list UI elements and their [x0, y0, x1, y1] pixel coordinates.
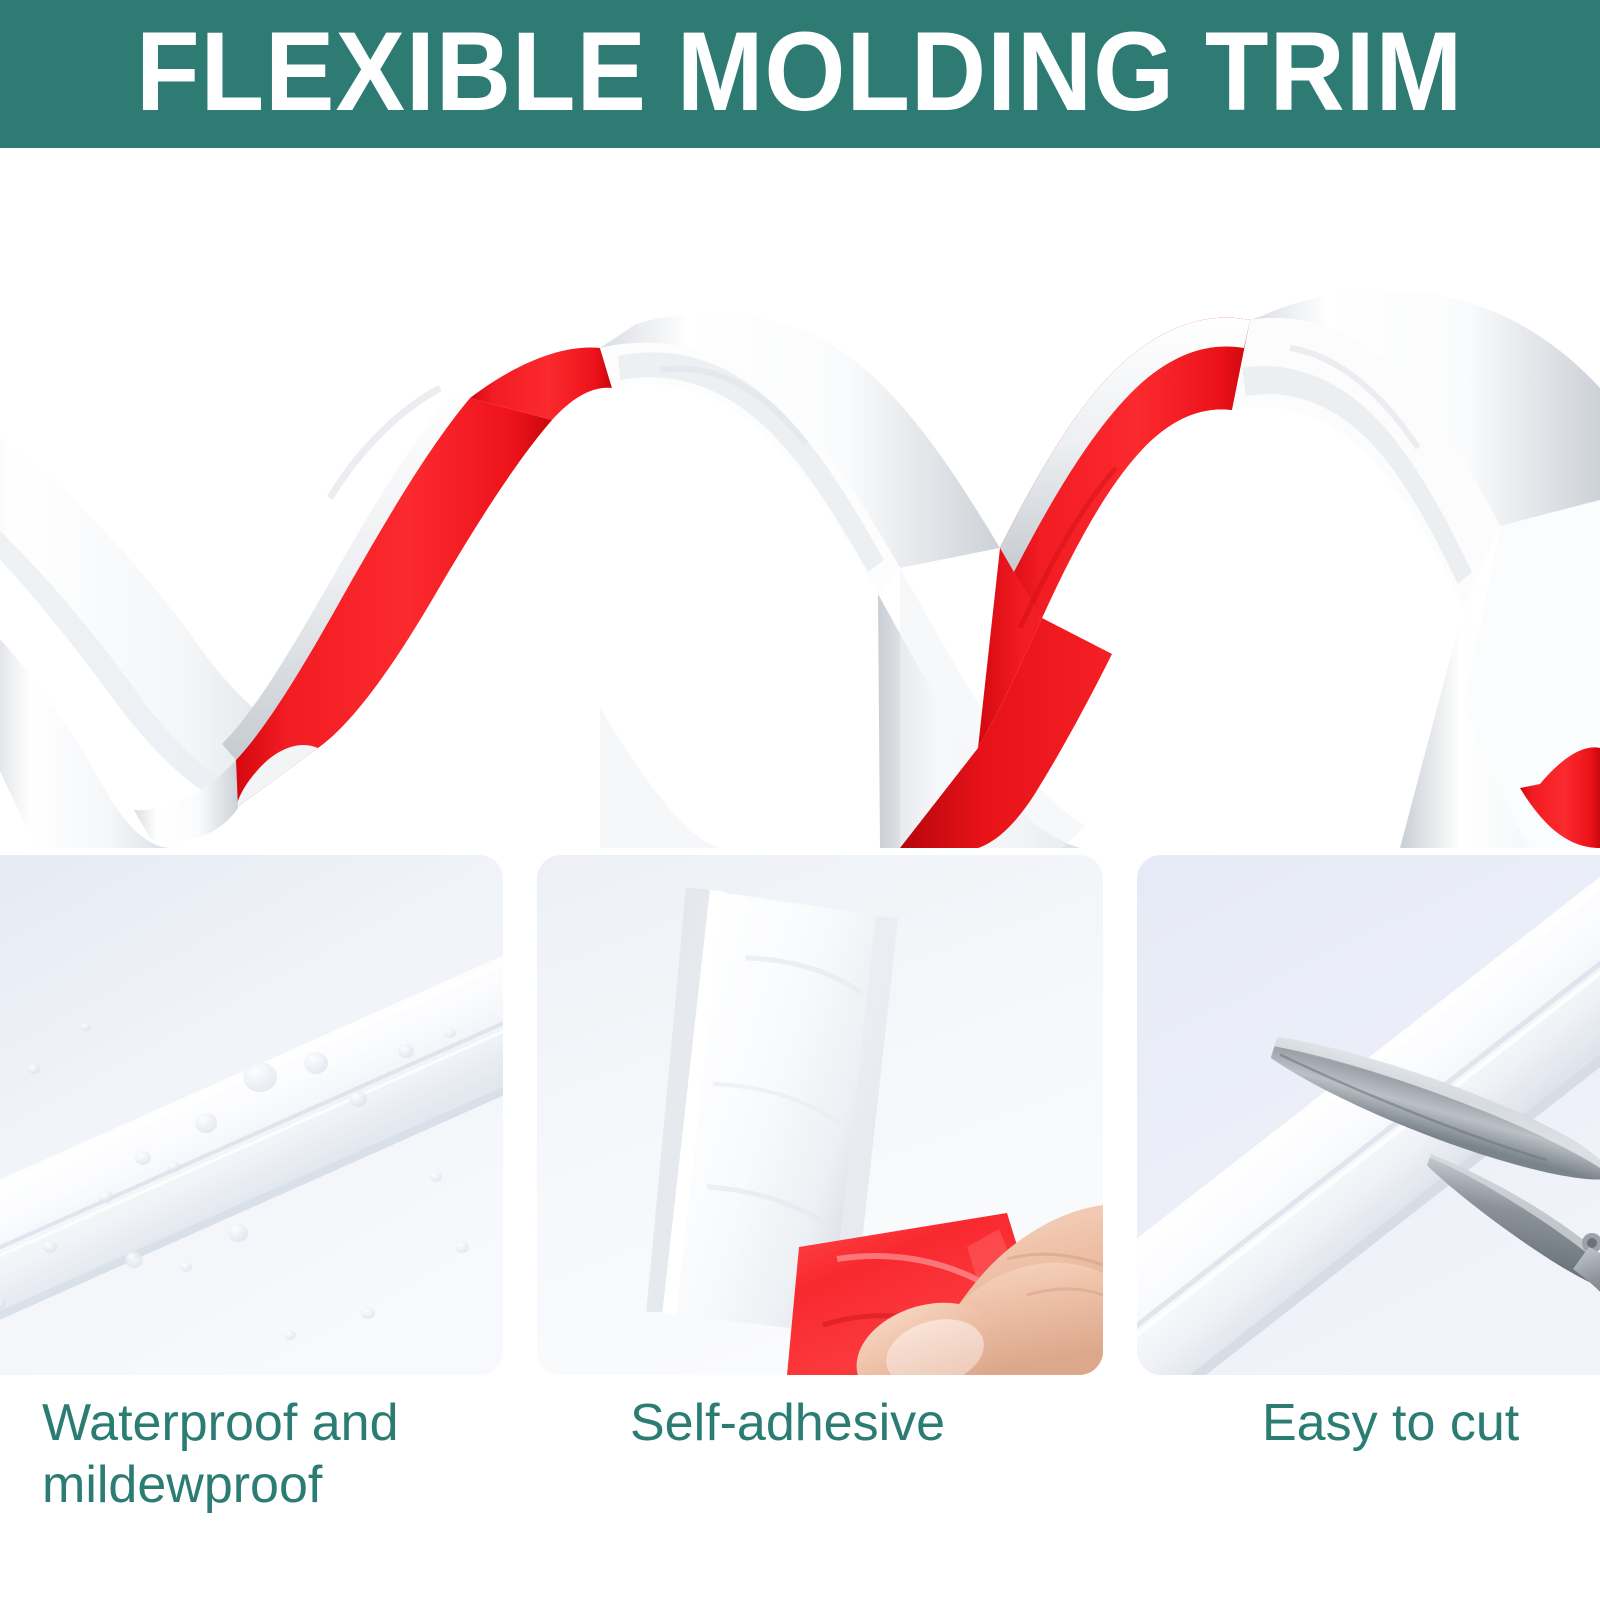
caption-waterproof: Waterproof and mildewproof	[42, 1392, 512, 1516]
header-banner: FLEXIBLE MOLDING TRIM	[0, 0, 1600, 148]
spiral-trim-illustration	[0, 148, 1600, 848]
caption-adhesive: Self-adhesive	[630, 1392, 1100, 1454]
feature-panel-waterproof[interactable]	[0, 855, 503, 1375]
hero-product-image	[0, 148, 1600, 848]
feature-panel-adhesive[interactable]	[537, 855, 1103, 1375]
cut-image	[1137, 855, 1600, 1375]
adhesive-image	[537, 855, 1103, 1375]
waterproof-image	[0, 855, 503, 1375]
feature-panel-cut[interactable]	[1137, 855, 1600, 1375]
feature-panel-row	[0, 855, 1600, 1375]
page-title: FLEXIBLE MOLDING TRIM	[136, 16, 1463, 128]
caption-cut: Easy to cut	[1262, 1392, 1592, 1454]
feature-caption-row: Waterproof and mildewproof Self-adhesive…	[0, 1392, 1600, 1600]
